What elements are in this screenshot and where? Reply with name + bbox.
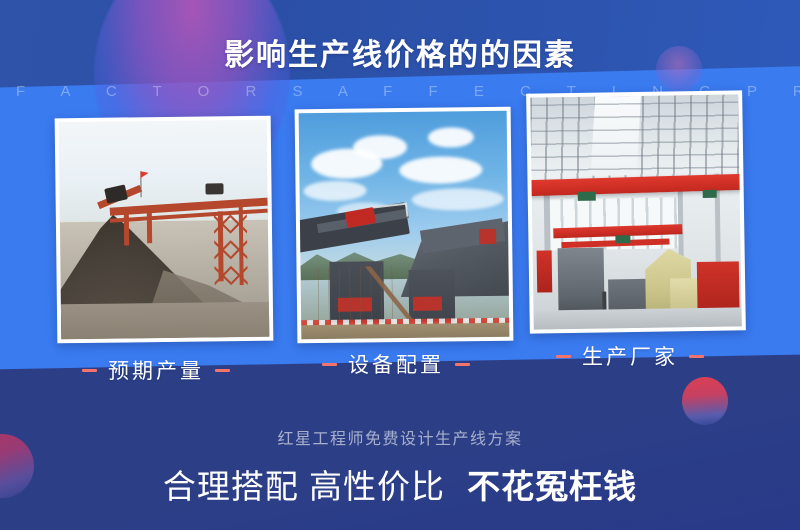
cloud (399, 156, 483, 184)
cloud (353, 135, 407, 161)
factory-workshop-interior-photo (530, 94, 742, 329)
red-machine-2 (537, 250, 552, 292)
ground-layer (61, 302, 269, 339)
red-machine-part (479, 228, 496, 244)
footer-headline-strong: 不花冤枉钱 (467, 468, 637, 505)
caption-manufacturer: 生产厂家 (556, 341, 704, 371)
photo-card-3[interactable] (526, 90, 746, 333)
aggregate-stockpile-conveyor-photo (59, 120, 270, 340)
crane-hoist (702, 190, 717, 198)
dash-right-icon (455, 363, 470, 366)
cloud (304, 180, 367, 201)
crane-hoist (616, 235, 631, 243)
caption-equipment-config: 设备配置 (322, 349, 470, 379)
factory-floor (534, 308, 742, 330)
dash-left-icon (322, 363, 337, 366)
dash-left-icon (82, 369, 97, 372)
roof-truss (530, 101, 739, 174)
dash-right-icon (689, 355, 704, 358)
caption-label: 设备配置 (348, 349, 444, 379)
caption-label: 生产厂家 (582, 341, 678, 371)
footer-headline: 合理搭配 高性价比 不花冤枉钱 (0, 460, 800, 508)
lattice-tower (214, 211, 248, 290)
cloud (412, 188, 504, 212)
support-leg (124, 210, 129, 245)
caption-expected-output: 预期产量 (82, 355, 230, 385)
support-leg (147, 212, 152, 242)
caption-label: 预期产量 (108, 355, 204, 385)
photo-card-1[interactable] (55, 116, 274, 344)
cloud (428, 127, 474, 148)
crane-hoist (577, 192, 596, 202)
dash-right-icon (215, 369, 230, 372)
conveyor-head-pulley-2 (205, 183, 224, 194)
photo-card-2[interactable] (295, 107, 514, 344)
footer-headline-light: 合理搭配 高性价比 (163, 468, 445, 505)
crushing-plant-equipment-photo (299, 111, 510, 340)
banner-footer: 红星工程师免费设计生产线方案 合理搭配 高性价比 不花冤枉钱 (0, 425, 800, 530)
footer-subtitle: 红星工程师免费设计生产线方案 (0, 425, 800, 449)
dash-left-icon (556, 355, 571, 358)
promo-banner: 影响生产线价格的的因素 F A C T O R S A F F E C T I … (0, 0, 800, 530)
grey-machine (558, 247, 605, 317)
